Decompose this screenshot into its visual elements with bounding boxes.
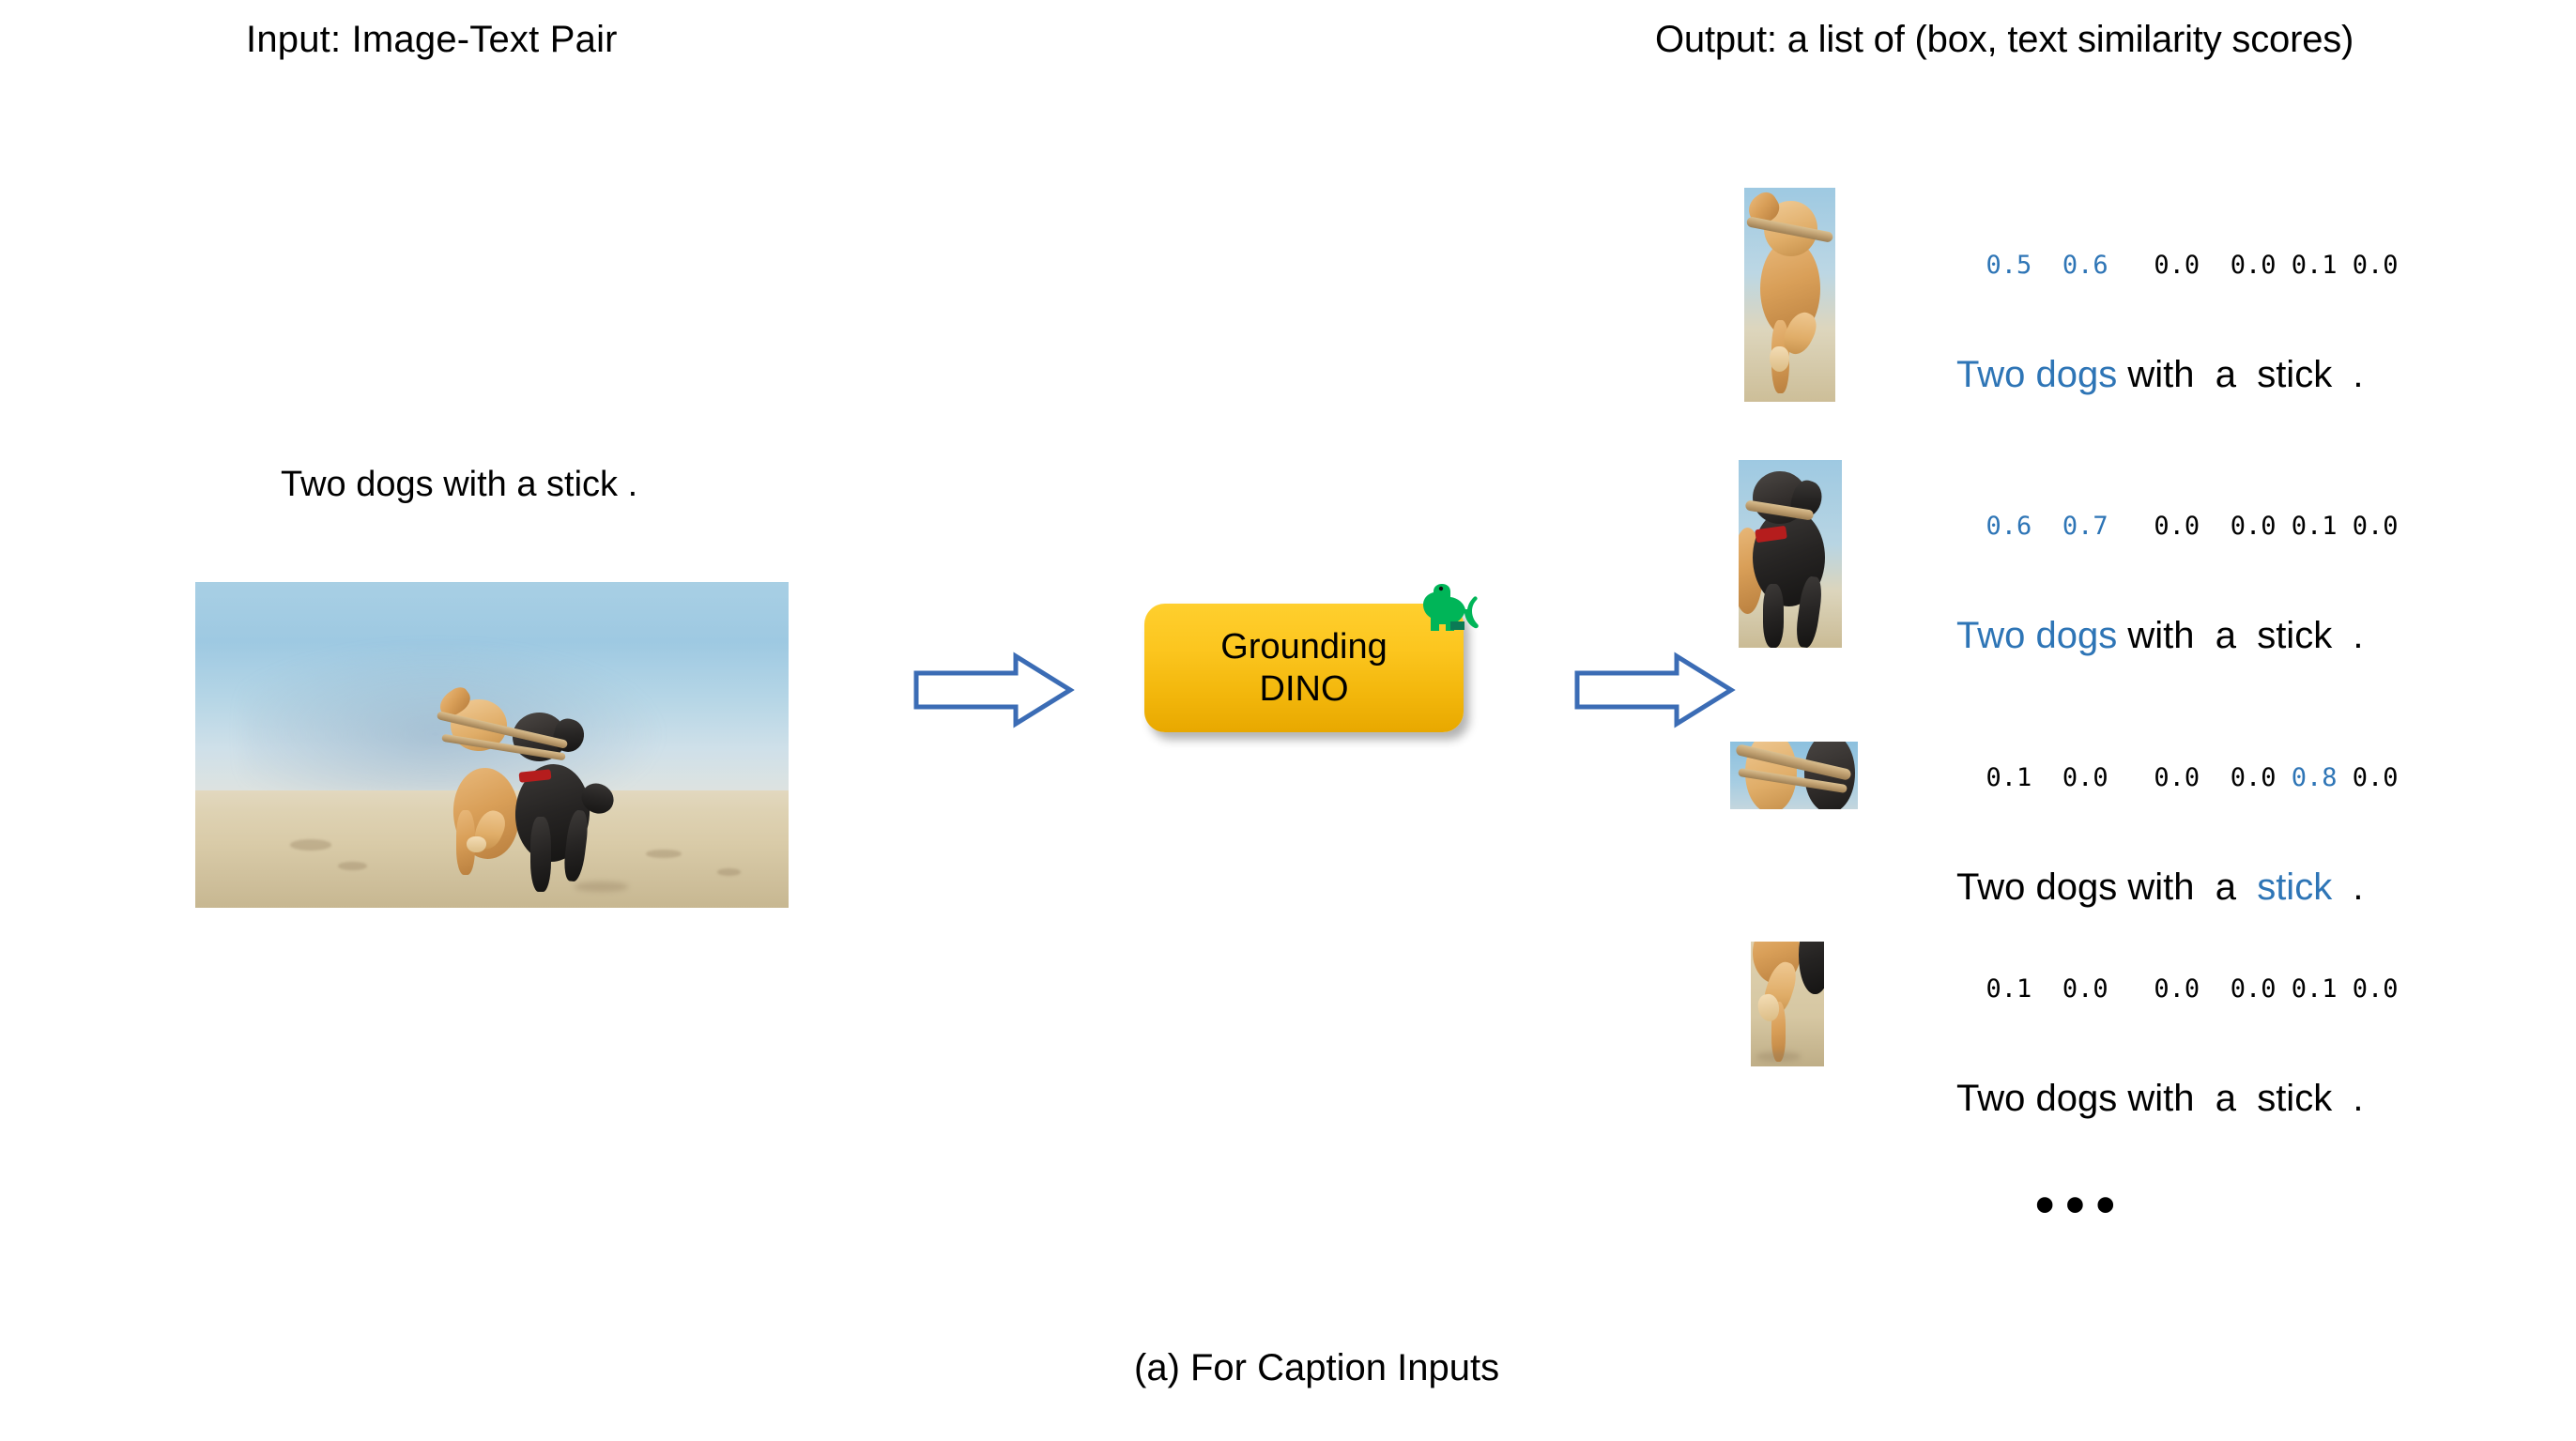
token-2: with xyxy=(2127,615,2194,656)
score-0: 0.5 xyxy=(1986,251,2032,280)
tan-dog-paw xyxy=(467,836,485,852)
sand-spot xyxy=(290,839,331,851)
token-5: . xyxy=(2353,866,2363,908)
token-0: Two xyxy=(1956,354,2025,395)
similarity-scores: 0.6 0.7 0.0 0.0 0.1 0.0 xyxy=(1894,488,2399,564)
dog-legs-crop xyxy=(1751,942,1824,1066)
row-text-block: 0.6 0.7 0.0 0.0 0.1 0.0 Two dogs with a … xyxy=(1894,488,2399,692)
token-3: a xyxy=(2216,354,2236,395)
score-0: 0.1 xyxy=(1986,974,2032,1004)
grounding-dino-box[interactable]: Grounding DINO xyxy=(1144,604,1464,732)
dinosaur-icon xyxy=(1422,578,1482,636)
score-4: 0.8 xyxy=(2292,763,2338,792)
sand-shadow xyxy=(1756,1051,1801,1062)
score-3: 0.0 xyxy=(2231,974,2277,1004)
similarity-scores: 0.5 0.6 0.0 0.0 0.1 0.0 xyxy=(1894,227,2399,303)
arrow-right-icon-model-to-output xyxy=(1575,652,1735,728)
score-1: 0.6 xyxy=(2062,251,2108,280)
detection-thumbnail xyxy=(1744,188,1835,402)
score-3: 0.0 xyxy=(2231,763,2277,792)
token-2: with xyxy=(2127,866,2194,908)
score-3: 0.0 xyxy=(2231,512,2277,541)
row-text-block: 0.1 0.0 0.0 0.0 0.1 0.0 Two dogs with a … xyxy=(1894,951,2399,1155)
tan-dog-crop xyxy=(1744,188,1835,402)
detection-thumbnail xyxy=(1751,942,1824,1066)
score-1: 0.7 xyxy=(2062,512,2108,541)
row-text-block: 0.5 0.6 0.0 0.0 0.1 0.0 Two dogs with a … xyxy=(1894,227,2399,431)
token-3: a xyxy=(2216,615,2236,656)
more-results-ellipsis: ••• xyxy=(2035,1178,2126,1233)
token-5: . xyxy=(2353,354,2363,395)
score-4: 0.1 xyxy=(2292,251,2338,280)
black-dog-crop xyxy=(1739,460,1842,648)
token-4: stick xyxy=(2257,1078,2332,1119)
token-5: . xyxy=(2353,615,2363,656)
token-4: stick xyxy=(2257,866,2332,908)
black-dog-leg xyxy=(1763,584,1784,648)
token-3: a xyxy=(2216,866,2236,908)
model-name-line-2: DINO xyxy=(1260,668,1349,710)
score-0: 0.1 xyxy=(1986,763,2032,792)
score-5: 0.0 xyxy=(2353,763,2399,792)
row-text-block: 0.1 0.0 0.0 0.0 0.8 0.0 Two dogs with a … xyxy=(1894,740,2399,943)
score-5: 0.0 xyxy=(2353,512,2399,541)
grounding-dino-node[interactable]: Grounding DINO xyxy=(1144,604,1464,732)
score-4: 0.1 xyxy=(2292,512,2338,541)
token-1: dogs xyxy=(2035,1078,2117,1119)
sand-shadow xyxy=(575,881,628,891)
similarity-scores: 0.1 0.0 0.0 0.0 0.8 0.0 xyxy=(1894,740,2399,816)
arrow-right-icon-input-to-model xyxy=(914,652,1074,728)
token-1: dogs xyxy=(2035,615,2117,656)
output-section-heading: Output: a list of (box, text similarity … xyxy=(1655,19,2354,61)
caption-tokens: Two dogs with a stick . xyxy=(1894,579,2399,692)
token-5: . xyxy=(2353,1078,2363,1119)
caption-tokens: Two dogs with a stick . xyxy=(1894,1042,2399,1155)
detection-thumbnail xyxy=(1739,460,1842,648)
beach-dogs-scene xyxy=(195,582,789,908)
token-2: with xyxy=(2127,1078,2194,1119)
score-1: 0.0 xyxy=(2062,974,2108,1004)
model-name-line-1: Grounding xyxy=(1220,626,1387,667)
input-image xyxy=(195,582,789,908)
score-2: 0.0 xyxy=(2154,512,2200,541)
input-section-heading: Input: Image-Text Pair xyxy=(246,19,618,61)
score-2: 0.0 xyxy=(2154,251,2200,280)
score-2: 0.0 xyxy=(2154,974,2200,1004)
caption-tokens: Two dogs with a stick . xyxy=(1894,831,2399,943)
token-3: a xyxy=(2216,1078,2236,1119)
token-2: with xyxy=(2127,354,2194,395)
token-0: Two xyxy=(1956,1078,2025,1119)
score-4: 0.1 xyxy=(2292,974,2338,1004)
detection-thumbnail xyxy=(1730,742,1858,809)
token-4: stick xyxy=(2257,354,2332,395)
black-dog-leg xyxy=(530,817,550,892)
stick-crop xyxy=(1730,742,1858,809)
score-3: 0.0 xyxy=(2231,251,2277,280)
token-1: dogs xyxy=(2035,354,2117,395)
similarity-scores: 0.1 0.0 0.0 0.0 0.1 0.0 xyxy=(1894,951,2399,1027)
caption-tokens: Two dogs with a stick . xyxy=(1894,318,2399,431)
figure-caption: (a) For Caption Inputs xyxy=(1134,1347,1499,1389)
score-2: 0.0 xyxy=(2154,763,2200,792)
token-0: Two xyxy=(1956,866,2025,908)
score-5: 0.0 xyxy=(2353,251,2399,280)
token-1: dogs xyxy=(2035,866,2117,908)
token-4: stick xyxy=(2257,615,2332,656)
token-0: Two xyxy=(1956,615,2025,656)
score-5: 0.0 xyxy=(2353,974,2399,1004)
input-caption-text: Two dogs with a stick . xyxy=(281,465,637,505)
score-1: 0.0 xyxy=(2062,763,2108,792)
score-0: 0.6 xyxy=(1986,512,2032,541)
